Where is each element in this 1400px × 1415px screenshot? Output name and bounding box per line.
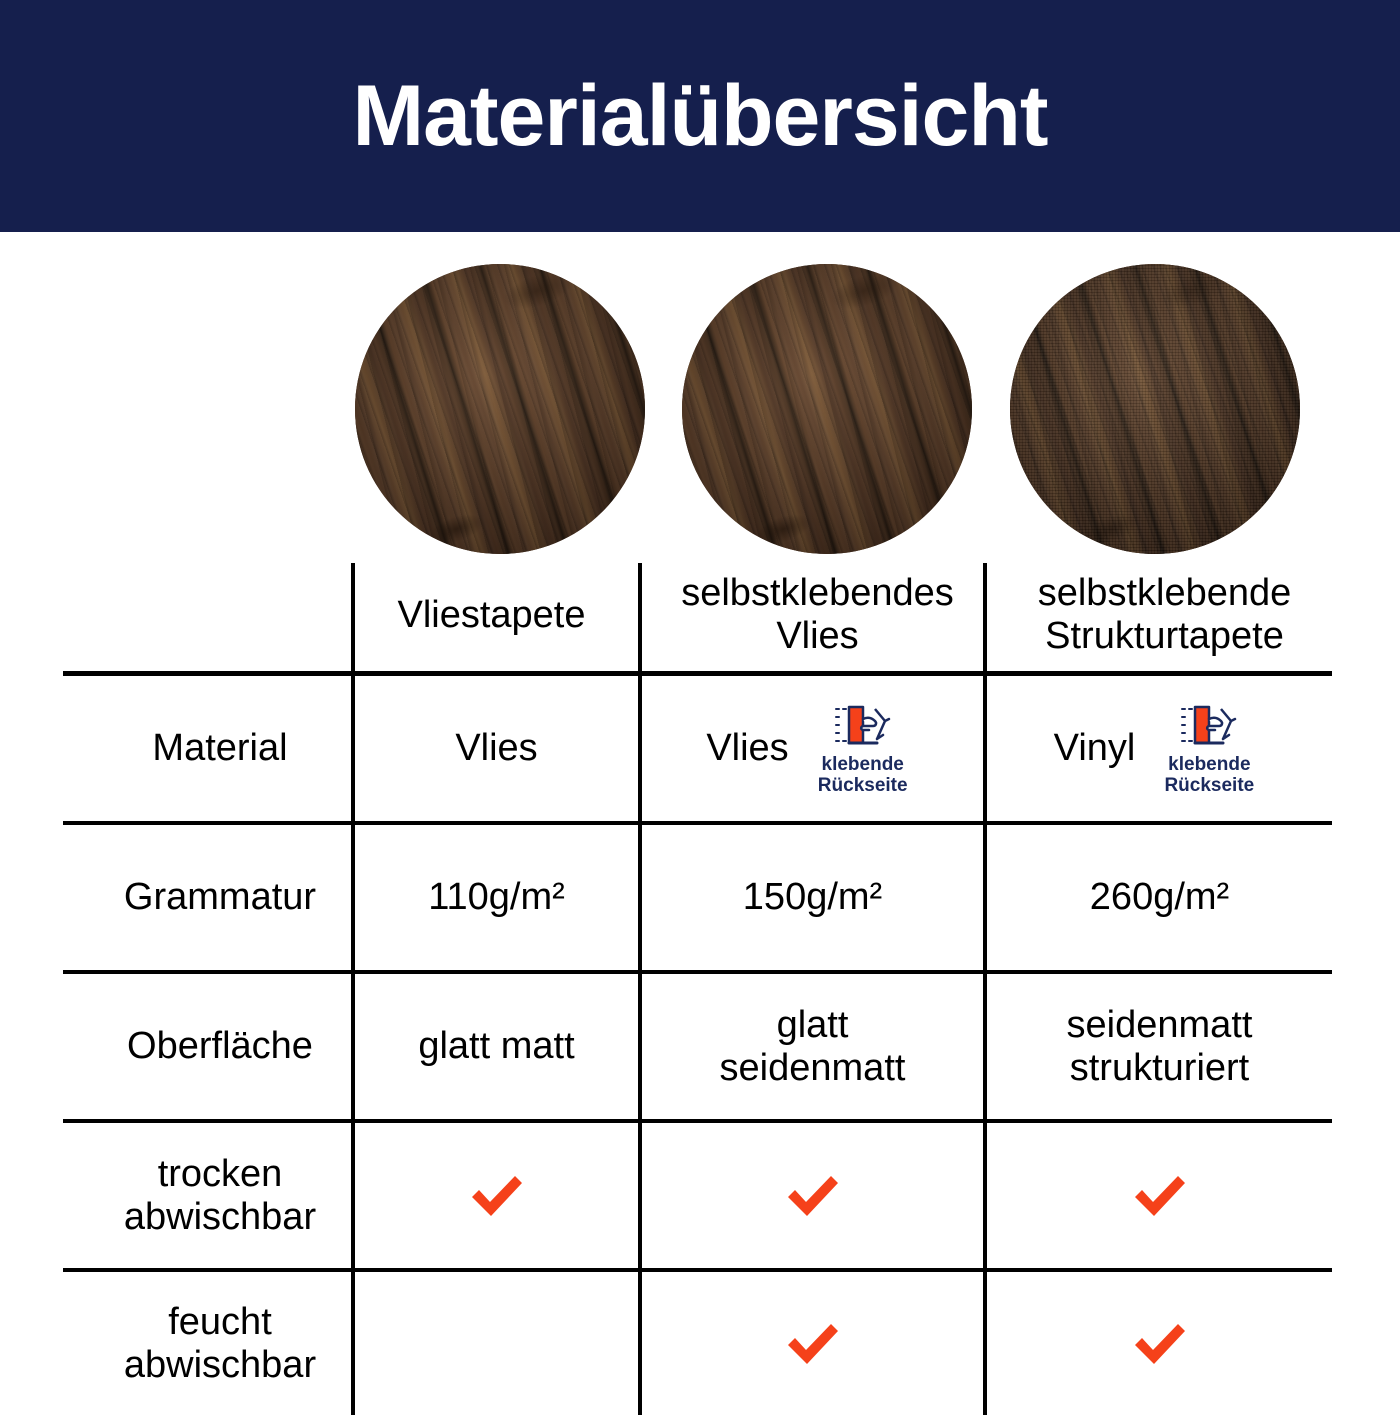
cell-material-selbstklebendes-vlies: Vlies xyxy=(640,674,985,824)
row-label-feucht-abwischbar: feucht abwischbar xyxy=(63,1270,353,1415)
material-overview-page: Materialübersicht xyxy=(0,0,1400,1400)
table-row-trocken-abwischbar: trocken abwischbar xyxy=(63,1121,1332,1270)
row-label-oberflaeche: Oberfläche xyxy=(63,972,353,1121)
cell-feucht-selbstklebendes-vlies xyxy=(640,1270,985,1415)
wood-swatch-strukturtapete xyxy=(1010,264,1300,554)
row-label-grammatur: Grammatur xyxy=(63,823,353,972)
cell-oberflaeche-vliestapete: glatt matt xyxy=(353,972,640,1121)
cell-grammatur-vliestapete: 110g/m² xyxy=(353,823,640,972)
cell-grammatur-selbstklebendes-vlies: 150g/m² xyxy=(640,823,985,972)
cell-trocken-selbstklebendes-vlies xyxy=(640,1121,985,1270)
adhesive-back-badge: klebende Rückseite xyxy=(807,701,919,797)
cell-oberflaeche-selbstklebendes-vlies: glattseidenmatt xyxy=(640,972,985,1121)
peel-sticker-icon xyxy=(1178,701,1240,751)
swatch-shading xyxy=(1010,264,1300,554)
wood-swatch-selbstklebendes-vlies xyxy=(682,264,972,554)
swatch-shading xyxy=(682,264,972,554)
badge-line-1: klebende xyxy=(822,754,904,775)
checkmark-icon xyxy=(466,1170,528,1222)
checkmark-icon xyxy=(782,1318,844,1370)
cell-feucht-vliestapete xyxy=(353,1270,640,1415)
header-cell-empty xyxy=(63,563,353,674)
row-label-material: Material xyxy=(63,674,353,824)
checkmark-icon xyxy=(782,1170,844,1222)
column-header-selbstklebendes-vlies: selbstklebendes Vlies xyxy=(640,563,985,674)
cell-oberflaeche-strukturtapete: seidenmattstrukturiert xyxy=(985,972,1332,1121)
material-comparison-table: Vliestapete selbstklebendes Vlies selbst… xyxy=(63,563,1332,1415)
cell-material-vliestapete: Vlies xyxy=(353,674,640,824)
table-row-feucht-abwischbar: feucht abwischbar xyxy=(63,1270,1332,1415)
cell-trocken-vliestapete xyxy=(353,1121,640,1270)
cell-grammatur-strukturtapete: 260g/m² xyxy=(985,823,1332,972)
table-row-oberflaeche: Oberfläche glatt matt glattseidenmatt se… xyxy=(63,972,1332,1121)
column-header-strukturtapete: selbstklebende Strukturtapete xyxy=(985,563,1332,674)
swatch-row xyxy=(0,264,1400,556)
checkmark-icon xyxy=(1129,1170,1191,1222)
cell-trocken-strukturtapete xyxy=(985,1121,1332,1270)
cell-material-strukturtapete: Vinyl xyxy=(985,674,1332,824)
table-row-grammatur: Grammatur 110g/m² 150g/m² 260g/m² xyxy=(63,823,1332,972)
wood-swatch-vliestapete xyxy=(355,264,645,554)
table-row-material: Material Vlies Vlies xyxy=(63,674,1332,824)
adhesive-back-badge: klebende Rückseite xyxy=(1153,701,1265,797)
cell-feucht-strukturtapete xyxy=(985,1270,1332,1415)
badge-line-2: Rückseite xyxy=(1164,775,1254,796)
table-header-row: Vliestapete selbstklebendes Vlies selbst… xyxy=(63,563,1332,674)
column-header-vliestapete: Vliestapete xyxy=(353,563,640,674)
material-value: Vinyl xyxy=(1054,727,1136,770)
material-value: Vlies xyxy=(455,727,537,770)
swatch-shading xyxy=(355,264,645,554)
peel-sticker-icon xyxy=(832,701,894,751)
row-label-trocken-abwischbar: trocken abwischbar xyxy=(63,1121,353,1270)
badge-line-2: Rückseite xyxy=(818,775,908,796)
badge-line-1: klebende xyxy=(1168,754,1250,775)
checkmark-icon xyxy=(1129,1318,1191,1370)
material-value: Vlies xyxy=(706,727,788,770)
page-title: Materialübersicht xyxy=(0,73,1400,159)
page-header: Materialübersicht xyxy=(0,0,1400,232)
